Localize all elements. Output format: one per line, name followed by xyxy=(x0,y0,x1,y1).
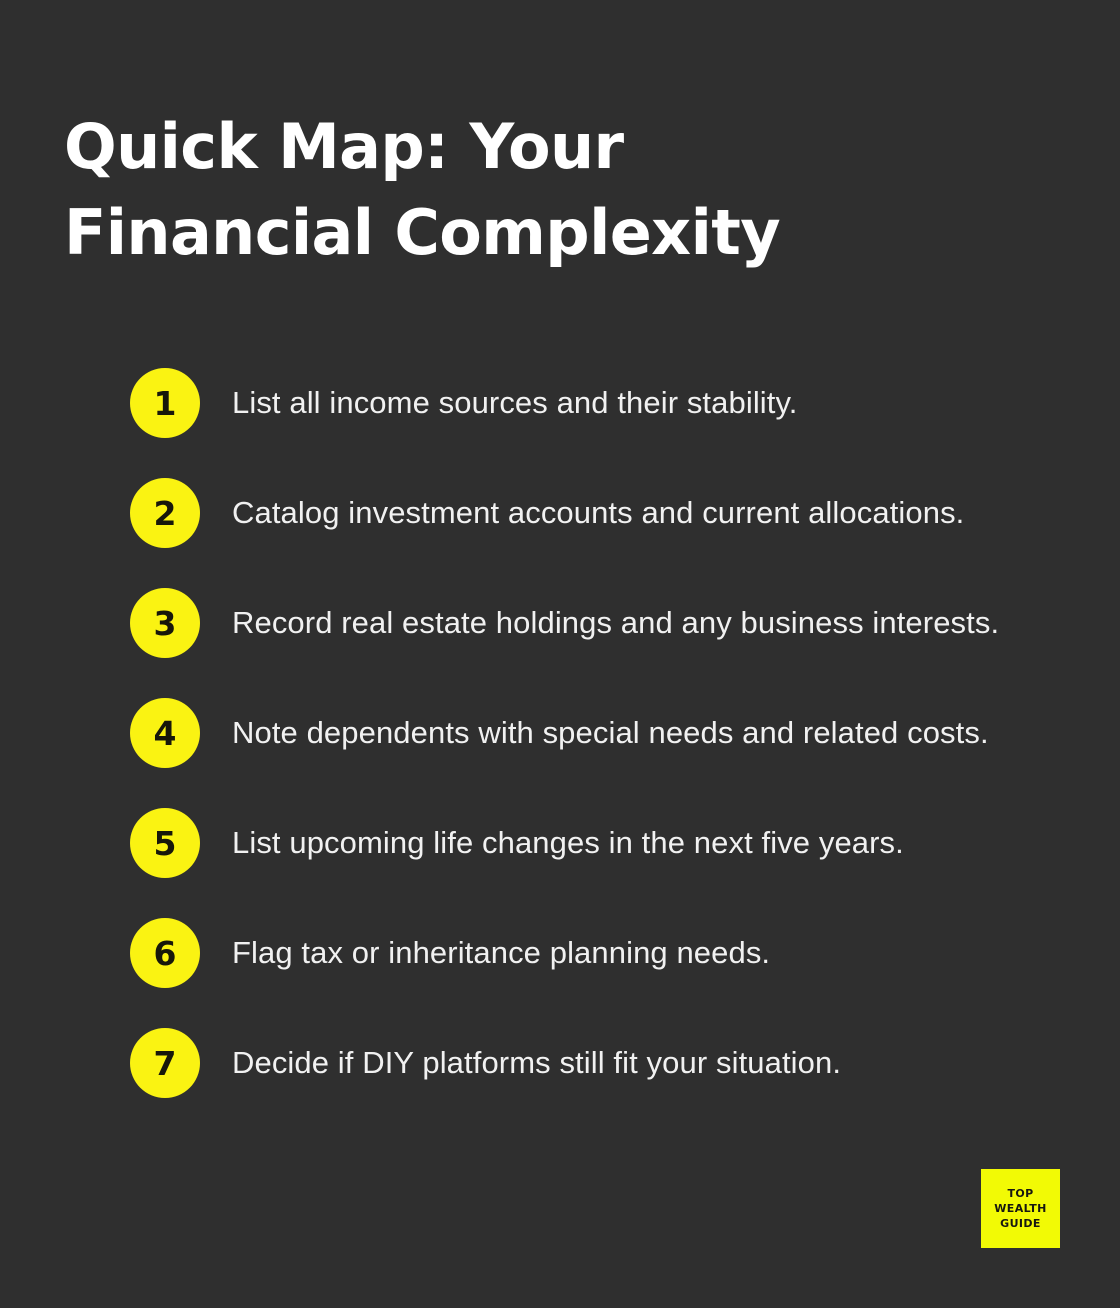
step-number-badge: 5 xyxy=(130,808,200,878)
list-item: 3 Record real estate holdings and any bu… xyxy=(130,588,1090,658)
step-text: Flag tax or inheritance planning needs. xyxy=(232,933,770,973)
brand-logo: TOP WEALTH GUIDE xyxy=(981,1169,1060,1248)
steps-list: 1 List all income sources and their stab… xyxy=(130,368,1090,1098)
step-text: Decide if DIY platforms still fit your s… xyxy=(232,1043,841,1083)
step-number-badge: 3 xyxy=(130,588,200,658)
list-item: 5 List upcoming life changes in the next… xyxy=(130,808,1090,878)
step-text: Catalog investment accounts and current … xyxy=(232,493,964,533)
step-number-badge: 4 xyxy=(130,698,200,768)
list-item: 6 Flag tax or inheritance planning needs… xyxy=(130,918,1090,988)
step-number-badge: 2 xyxy=(130,478,200,548)
list-item: 1 List all income sources and their stab… xyxy=(130,368,1090,438)
brand-line-wealth: WEALTH xyxy=(994,1201,1046,1216)
step-number-badge: 7 xyxy=(130,1028,200,1098)
step-text: List all income sources and their stabil… xyxy=(232,383,798,423)
list-item: 4 Note dependents with special needs and… xyxy=(130,698,1090,768)
list-item: 7 Decide if DIY platforms still fit your… xyxy=(130,1028,1090,1098)
step-text: List upcoming life changes in the next f… xyxy=(232,823,904,863)
page-title: Quick Map: Your Financial Complexity xyxy=(64,104,944,276)
step-number-badge: 6 xyxy=(130,918,200,988)
brand-line-guide: GUIDE xyxy=(1000,1216,1041,1231)
step-text: Record real estate holdings and any busi… xyxy=(232,603,999,643)
list-item: 2 Catalog investment accounts and curren… xyxy=(130,478,1090,548)
step-number-badge: 1 xyxy=(130,368,200,438)
step-text: Note dependents with special needs and r… xyxy=(232,713,989,753)
infographic-poster: Quick Map: Your Financial Complexity 1 L… xyxy=(0,0,1120,1308)
brand-line-top: TOP xyxy=(1007,1186,1033,1201)
